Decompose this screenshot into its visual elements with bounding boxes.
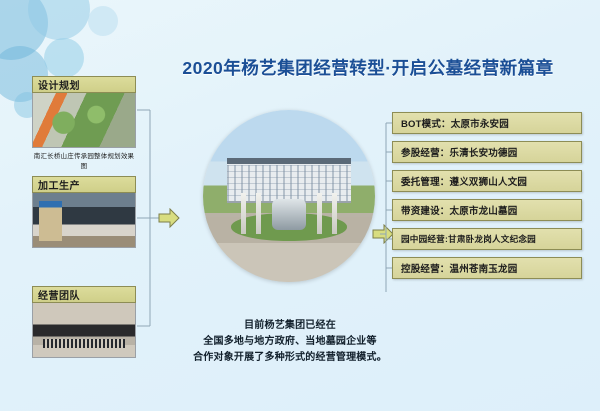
column-shape	[332, 193, 337, 234]
staff-group-photo	[32, 303, 136, 358]
card-caption: 南汇长桥山庄传承园整体规划效果图	[32, 148, 136, 170]
decorative-circle	[44, 38, 84, 78]
column-shape	[317, 193, 322, 234]
summary-line-2: 全国多地与地方政府、当地墓园企业等	[168, 334, 412, 350]
list-item[interactable]: 委托管理：遵义双狮山人文园	[392, 170, 582, 192]
decorative-circle	[88, 6, 118, 36]
list-item[interactable]: 参股经营：乐清长安功德园	[392, 141, 582, 163]
column-shape	[256, 193, 261, 234]
business-model-list: BOT模式：太原市永安园 参股经营：乐清长安功德园 委托管理：遵义双狮山人文园 …	[392, 112, 582, 286]
summary-line-3: 合作对象开展了多种形式的经营管理模式。	[168, 350, 412, 366]
left-card-processing[interactable]: 加工生产	[32, 176, 136, 248]
card-header-label: 加工生产	[32, 176, 136, 193]
arrow-right-icon	[158, 208, 180, 228]
left-card-management-team[interactable]: 经营团队	[32, 286, 136, 358]
decorative-circle	[28, 0, 90, 40]
slide-canvas: 2020年杨艺集团经营转型·开启公墓经营新篇章 设计规划 南汇长桥山庄传承园整体…	[0, 0, 600, 411]
list-item[interactable]: 带资建设：太原市龙山墓园	[392, 199, 582, 221]
list-item[interactable]: 园中园经营:甘肃卧龙岗人文纪念园	[392, 228, 582, 250]
memorial-park-main-building-photo	[203, 110, 375, 282]
aerial-site-plan-photo	[32, 93, 136, 148]
left-card-design-planning[interactable]: 设计规划 南汇长桥山庄传承园整体规划效果图	[32, 76, 136, 170]
slide-title: 2020年杨艺集团经营转型·开启公墓经营新篇章	[150, 52, 586, 82]
fountain-shape	[272, 199, 306, 230]
list-item[interactable]: BOT模式：太原市永安园	[392, 112, 582, 134]
column-shape	[241, 193, 246, 234]
list-item[interactable]: 控股经营：温州苍南玉龙园	[392, 257, 582, 279]
summary-text: 目前杨艺集团已经在 全国多地与地方政府、当地墓园企业等 合作对象开展了多种形式的…	[168, 318, 412, 366]
arrow-right-icon	[372, 224, 394, 244]
decorative-circle	[0, 0, 48, 60]
card-header-label: 设计规划	[32, 76, 136, 93]
summary-line-1: 目前杨艺集团已经在	[168, 318, 412, 334]
stone-processing-factory-photo	[32, 193, 136, 248]
card-header-label: 经营团队	[32, 286, 136, 303]
